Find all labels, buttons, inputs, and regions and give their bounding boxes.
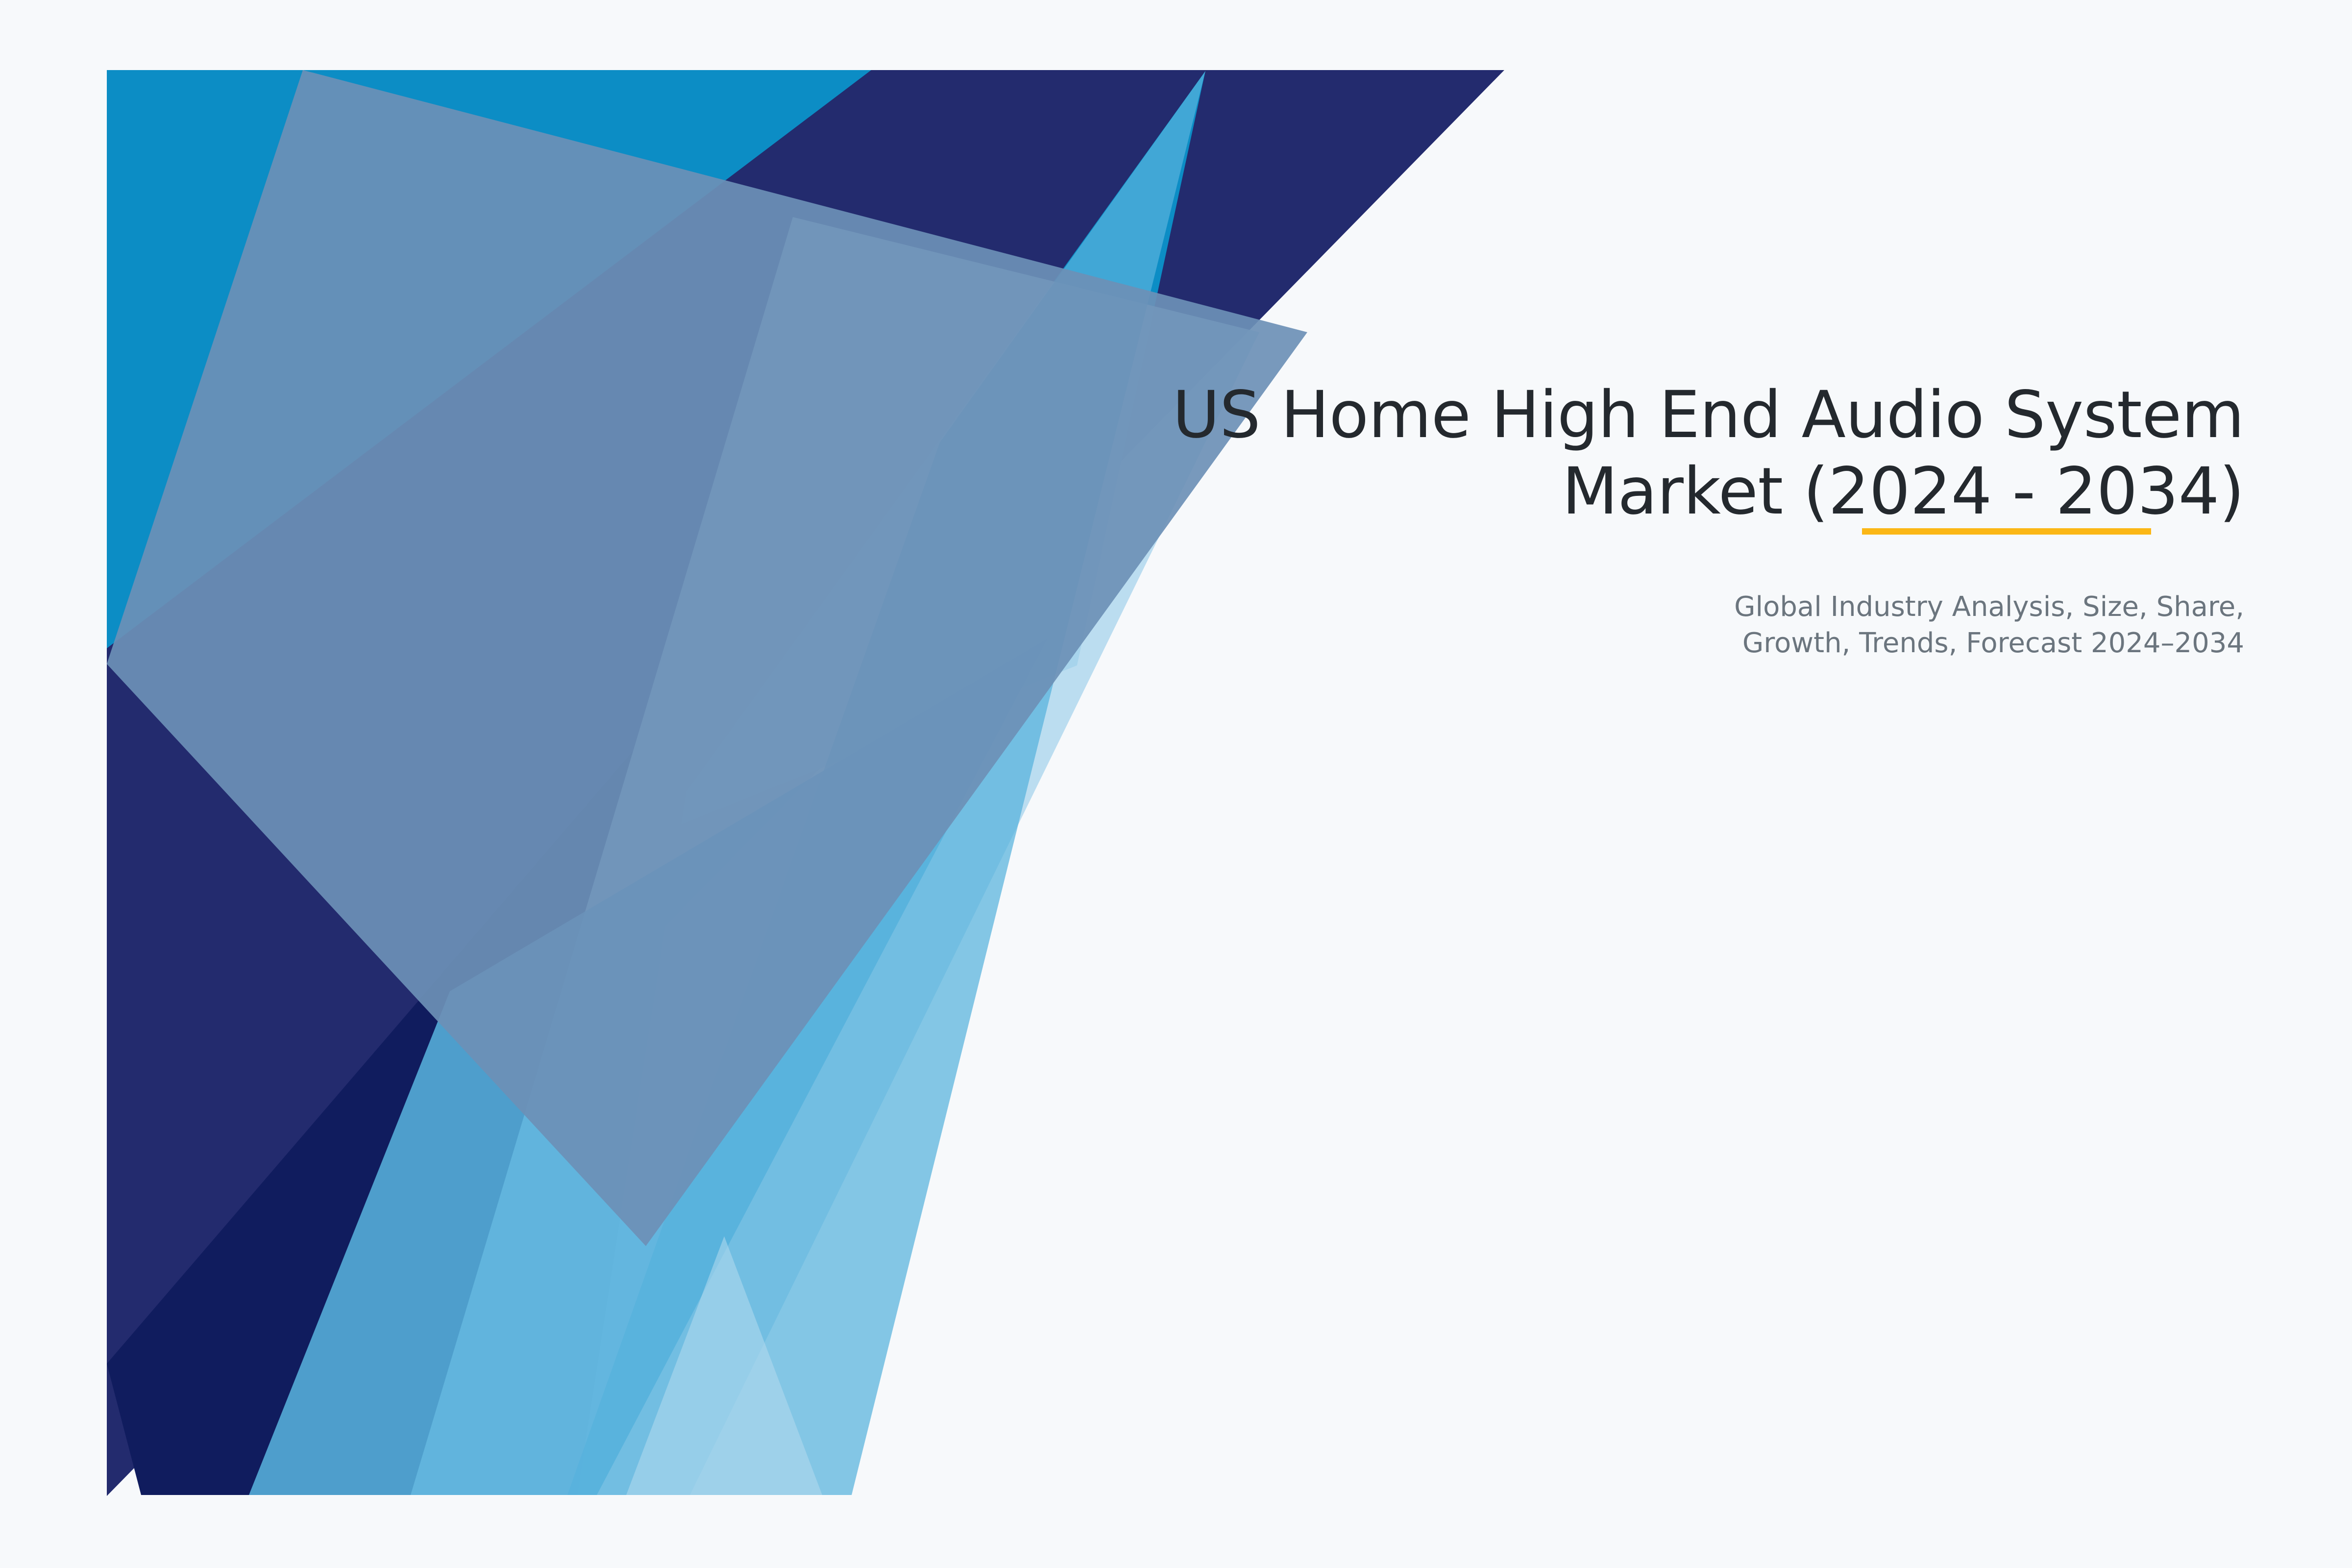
page-subtitle: Global Industry Analysis, Size, Share, G… bbox=[1009, 530, 2244, 662]
page-subtitle-line-2: Growth, Trends, Forecast 2024–2034 bbox=[1742, 627, 2244, 659]
cover-artwork bbox=[107, 70, 1506, 1496]
artwork-svg bbox=[107, 70, 1506, 1496]
title-accent-rule bbox=[1862, 528, 2151, 535]
report-cover: US Home High End Audio System Market (20… bbox=[0, 0, 2352, 1568]
page-title: US Home High End Audio System Market (20… bbox=[1009, 377, 2244, 530]
cover-text-block: US Home High End Audio System Market (20… bbox=[1009, 377, 2244, 661]
page-subtitle-line-1: Global Industry Analysis, Size, Share, bbox=[1734, 591, 2244, 623]
